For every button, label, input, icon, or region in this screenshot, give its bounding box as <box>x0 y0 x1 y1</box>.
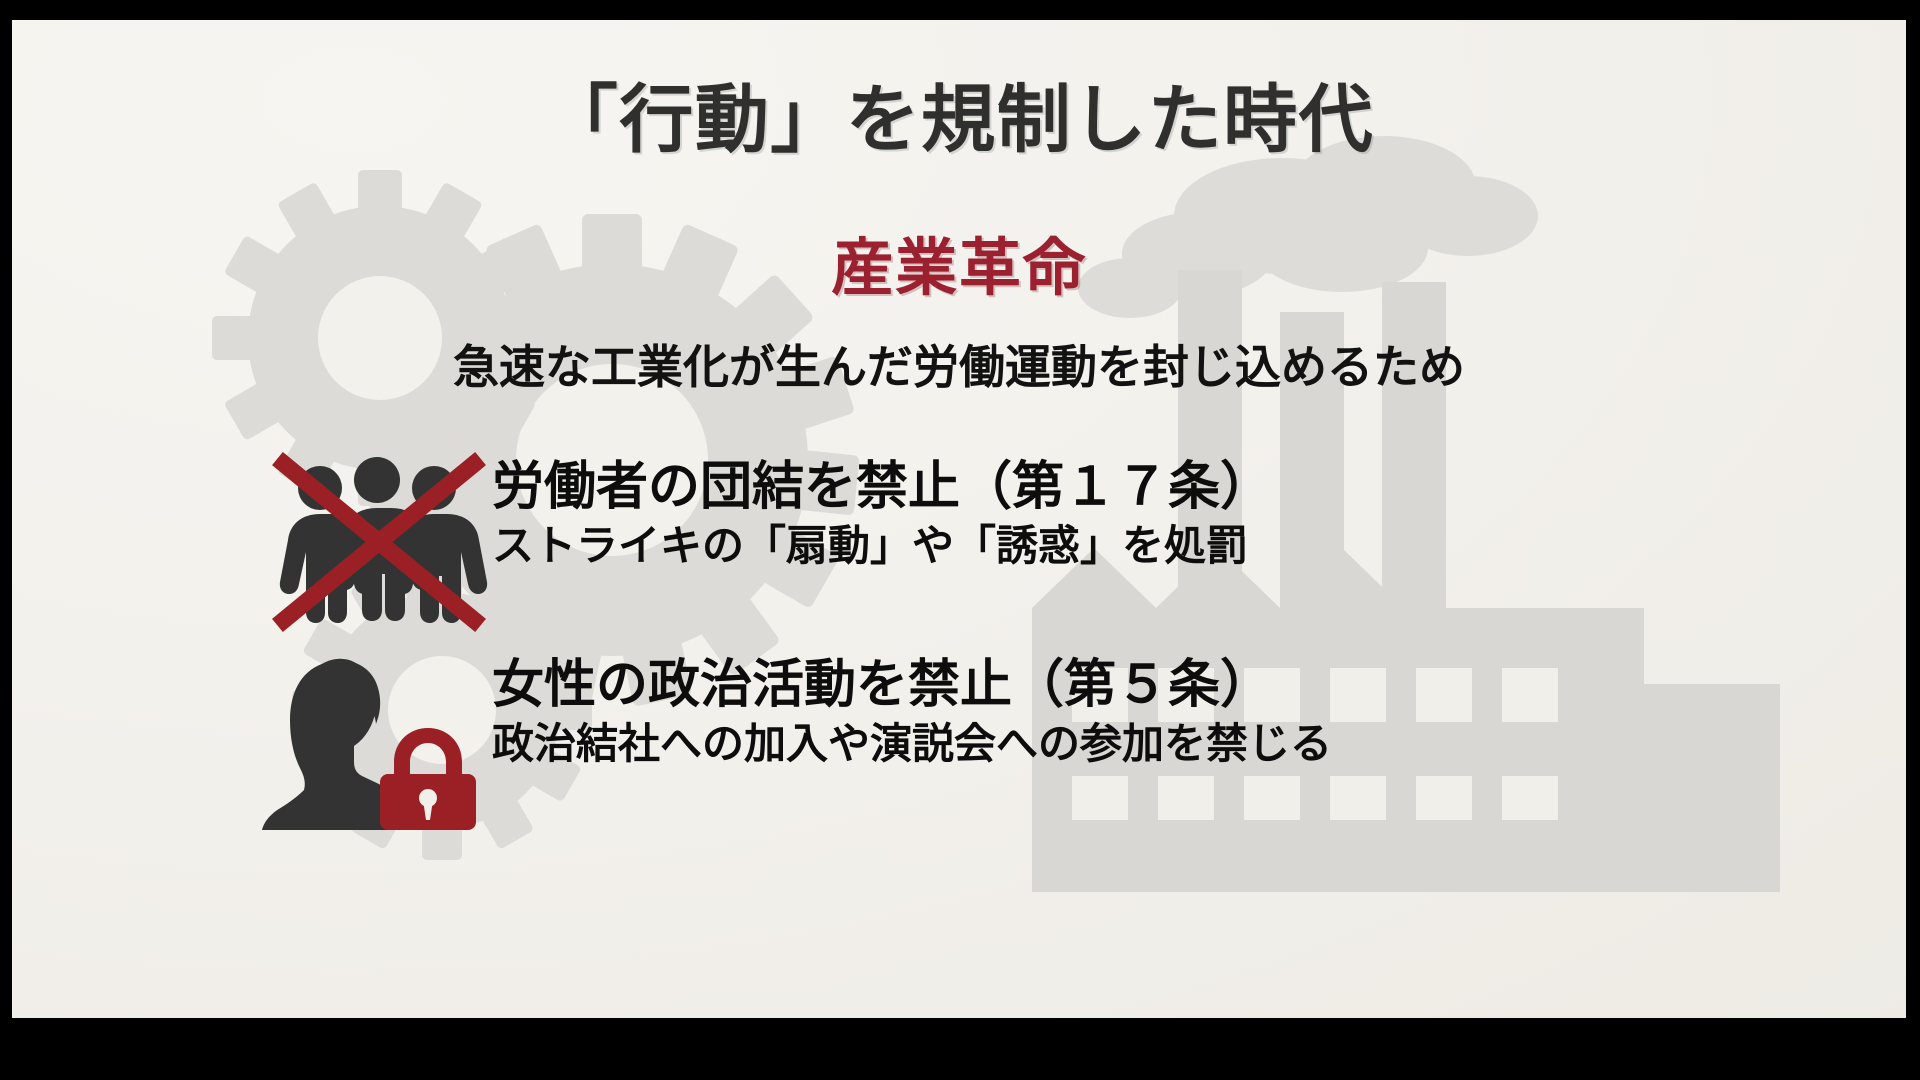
list-item: 労働者の団結を禁止（第１７条） ストライキの「扇動」や「誘惑」を処罰 <box>262 452 1822 632</box>
slide-content: 「行動」を規制した時代 産業革命 急速な工業化が生んだ労働運動を封じ込めるため <box>12 20 1906 1018</box>
slide-frame: 「行動」を規制した時代 産業革命 急速な工業化が生んだ労働運動を封じ込めるため <box>0 0 1920 1080</box>
padlock-shape <box>380 728 476 830</box>
list-item: 女性の政治活動を禁止（第５条） 政治結社への加入や演説会への参加を禁じる <box>262 650 1822 830</box>
woman-with-padlock-icon <box>262 650 492 830</box>
section-heading-industrial-revolution: 産業革命 <box>12 235 1906 300</box>
bullet-subline: 政治結社への加入や演説会への参加を禁じる <box>492 720 1822 768</box>
letterbox-bar-top <box>0 0 1920 20</box>
letterbox-bar-right <box>1906 0 1920 1080</box>
bullet-text-group: 女性の政治活動を禁止（第５条） 政治結社への加入や演説会への参加を禁じる <box>492 650 1822 769</box>
bullet-text-group: 労働者の団結を禁止（第１７条） ストライキの「扇動」や「誘惑」を処罰 <box>492 452 1822 571</box>
letterbox-bar-left <box>0 0 12 1080</box>
group-of-people-crossed-out-icon <box>262 452 492 632</box>
slide-canvas: 「行動」を規制した時代 産業革命 急速な工業化が生んだ労働運動を封じ込めるため <box>12 20 1906 1018</box>
bullet-subline: ストライキの「扇動」や「誘惑」を処罰 <box>492 522 1822 570</box>
page-title: 「行動」を規制した時代 <box>12 82 1906 160</box>
section-subtitle: 急速な工業化が生んだ労働運動を封じ込めるため <box>12 342 1906 393</box>
letterbox-bar-bottom <box>0 1018 1920 1080</box>
bullet-headline: 労働者の団結を禁止（第１７条） <box>492 458 1822 516</box>
bullet-headline: 女性の政治活動を禁止（第５条） <box>492 656 1822 714</box>
